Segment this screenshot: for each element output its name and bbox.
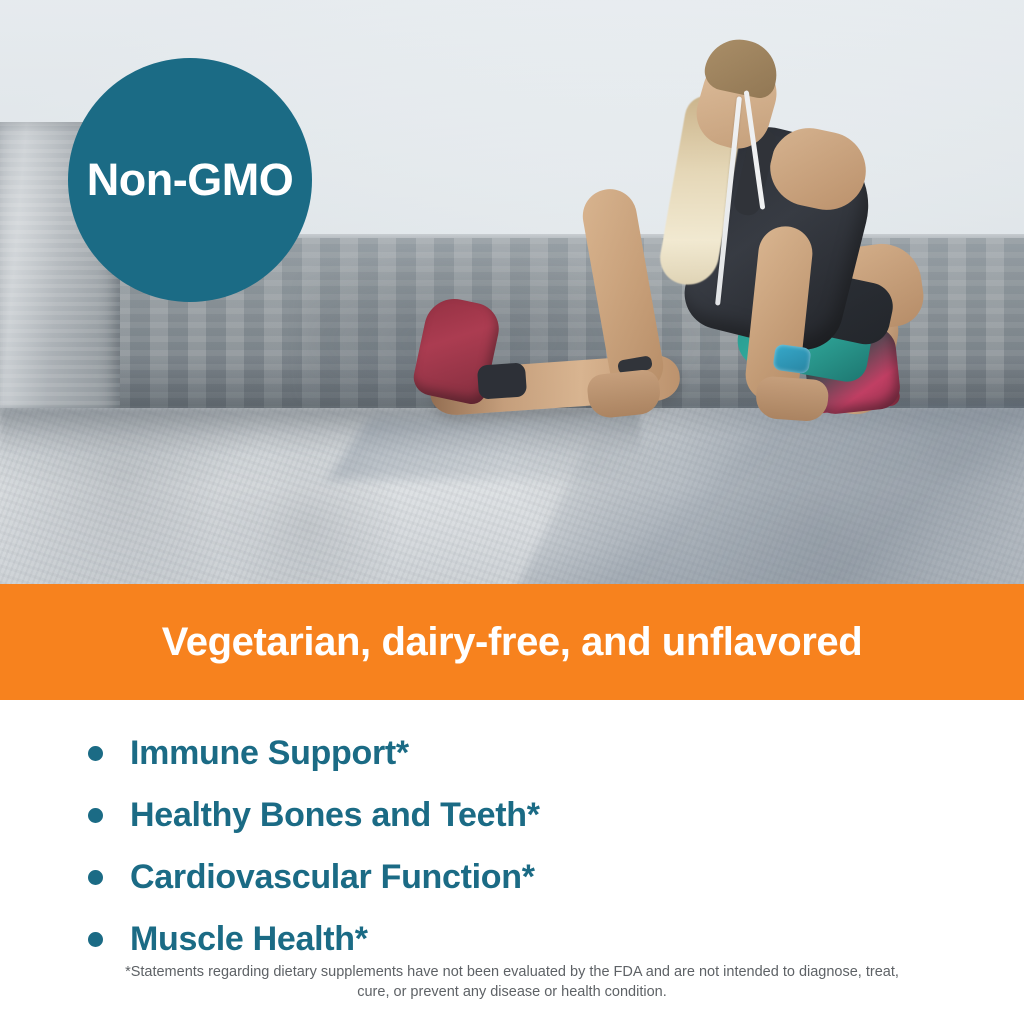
headline-band: Vegetarian, dairy-free, and unflavored — [0, 584, 1024, 700]
left-hand — [586, 368, 662, 419]
non-gmo-badge-label: Non-GMO — [87, 154, 293, 206]
benefit-label-muscle-health: Muscle Health* — [130, 920, 368, 959]
list-item: Immune Support* — [88, 722, 1024, 784]
fda-disclaimer: *Statements regarding dietary supplement… — [0, 962, 1024, 1002]
sport-watch — [772, 344, 811, 375]
list-item: Cardiovascular Function* — [88, 846, 1024, 908]
bullet-dot-icon — [88, 746, 103, 761]
disclaimer-line-1: *Statements regarding dietary supplement… — [66, 962, 958, 982]
headline-text: Vegetarian, dairy-free, and unflavored — [162, 620, 863, 665]
non-gmo-badge: Non-GMO — [68, 58, 312, 302]
list-item: Muscle Health* — [88, 908, 1024, 970]
bullet-dot-icon — [88, 808, 103, 823]
product-infographic: Non-GMO Vegetarian, dairy-free, and unfl… — [0, 0, 1024, 1012]
bullet-dot-icon — [88, 870, 103, 885]
benefit-label-healthy-bones-and-teeth: Healthy Bones and Teeth* — [130, 796, 540, 835]
disclaimer-line-2: cure, or prevent any disease or health c… — [66, 982, 958, 1002]
list-item: Healthy Bones and Teeth* — [88, 784, 1024, 846]
right-hand — [755, 376, 830, 423]
left-sock — [477, 362, 527, 399]
hero-photo: Non-GMO — [0, 0, 1024, 584]
benefit-label-cardiovascular-function: Cardiovascular Function* — [130, 858, 535, 897]
benefits-list: Immune Support* Healthy Bones and Teeth*… — [0, 700, 1024, 956]
benefit-label-immune-support: Immune Support* — [130, 734, 409, 773]
bullet-dot-icon — [88, 932, 103, 947]
